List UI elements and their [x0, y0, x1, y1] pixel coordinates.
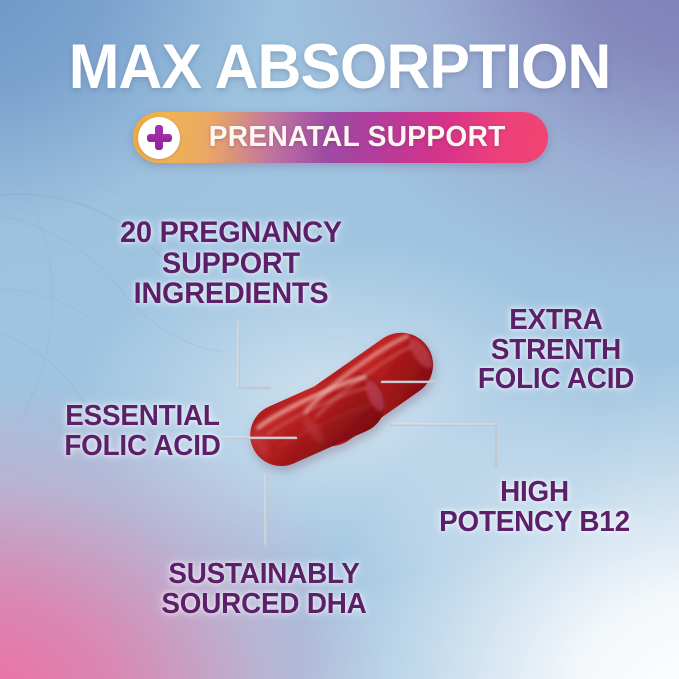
leader-ingredients: [239, 320, 270, 388]
feature-label-ingredients: 20 PREGNANCY SUPPORT INGREDIENTS: [92, 218, 370, 310]
feature-label-essential-folic-acid: ESSENTIAL FOLIC ACID: [35, 402, 251, 461]
feature-label-high-potency-b12: HIGH POTENCY B12: [417, 478, 652, 537]
product-infographic: MAX ABSORPTION PRENATAL SUPPORT: [0, 0, 679, 679]
feature-label-extra-strength: EXTRA STRENTH FOLIC ACID: [445, 306, 668, 395]
feature-label-sustainably-sourced-dha: SUSTAINABLY SOURCED DHA: [126, 560, 402, 619]
leader-b12: [391, 425, 496, 467]
